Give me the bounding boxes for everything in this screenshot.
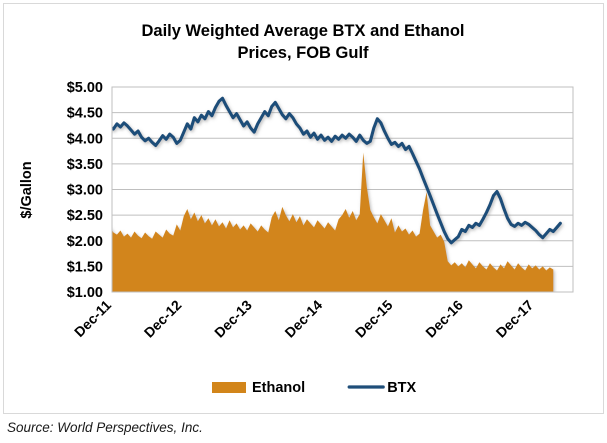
- legend-swatch-ethanol: [212, 382, 246, 393]
- legend-label-btx: BTX: [387, 380, 416, 396]
- x-tick-labels: Dec-11Dec-12Dec-13Dec-14Dec-15Dec-16Dec-…: [71, 297, 537, 341]
- chart-title-line2: Prices, FOB Gulf: [237, 44, 369, 62]
- y-axis-label: $/Gallon: [19, 161, 35, 218]
- y-tick-labels: $1.00$1.50$2.00$2.50$3.00$3.50$4.00$4.50…: [67, 80, 103, 301]
- x-tick-label: Dec-12: [141, 297, 185, 341]
- chart-figure: Daily Weighted Average BTX and Ethanol P…: [0, 0, 607, 443]
- x-tick-label: Dec-14: [281, 297, 325, 341]
- x-tick-label: Dec-17: [493, 297, 537, 341]
- x-tick-label: Dec-16: [422, 297, 466, 341]
- chart-legend: EthanolBTX: [212, 380, 417, 396]
- x-tick-label: Dec-13: [211, 297, 255, 341]
- y-tick-label: $3.50: [67, 157, 103, 173]
- y-tick-label: $1.50: [67, 259, 103, 275]
- chart-title-line1: Daily Weighted Average BTX and Ethanol: [141, 22, 464, 40]
- legend-label-ethanol: Ethanol: [252, 380, 305, 396]
- y-tick-label: $3.00: [67, 183, 103, 199]
- y-tick-label: $2.50: [67, 208, 103, 224]
- x-tick-label: Dec-15: [352, 297, 396, 341]
- y-tick-label: $5.00: [67, 80, 103, 96]
- y-tick-label: $4.50: [67, 106, 103, 122]
- x-tick-label: Dec-11: [71, 297, 114, 340]
- y-tick-label: $2.00: [67, 234, 103, 250]
- y-tick-label: $1.00: [67, 285, 103, 301]
- chart-canvas: Daily Weighted Average BTX and Ethanol P…: [0, 0, 607, 443]
- y-tick-label: $4.00: [67, 131, 103, 147]
- source-note: Source: World Perspectives, Inc.: [7, 420, 203, 435]
